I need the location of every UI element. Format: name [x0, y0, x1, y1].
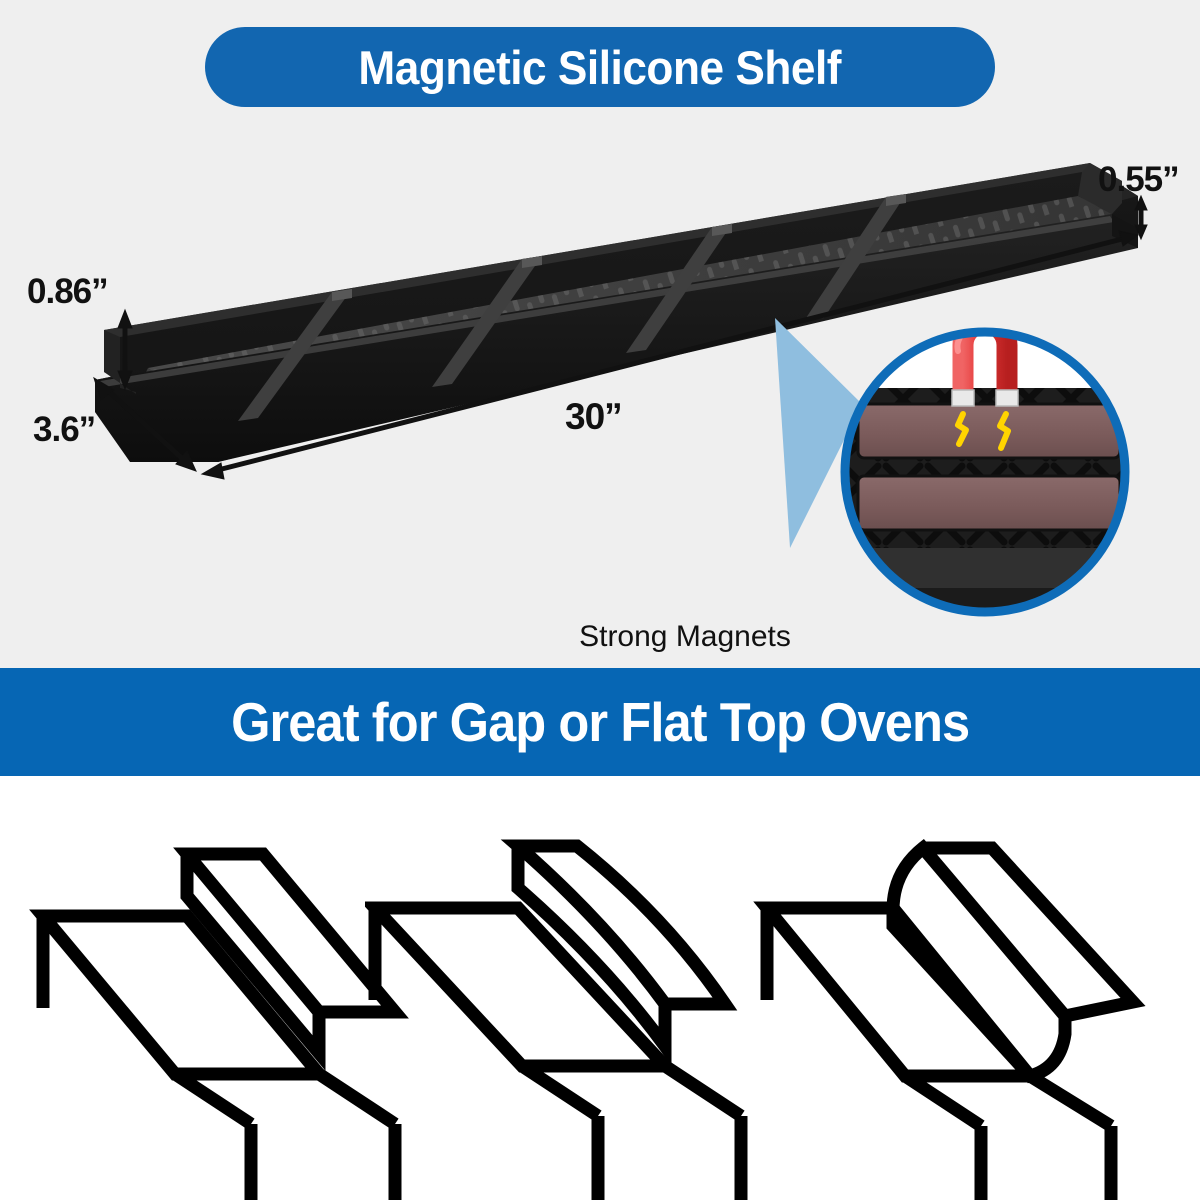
oven-diagram-slight-curve: [365, 776, 795, 1200]
dimension-label-height: 0.86”: [27, 272, 108, 312]
title-banner: Magnetic Silicone Shelf: [205, 27, 995, 107]
product-dimensions-panel: 0.86” 3.6” 30” 0.55” Strong Magnets Magn…: [0, 0, 1200, 668]
strong-magnets-caption: Strong Magnets: [579, 620, 791, 654]
section-banner: Great for Gap or Flat Top Ovens: [0, 668, 1200, 776]
oven-compatibility-panel: [0, 776, 1200, 1200]
oven-diagram-flat-gap: [0, 776, 410, 1200]
dimension-label-length: 30”: [565, 396, 622, 438]
infographic-page: 0.86” 3.6” 30” 0.55” Strong Magnets Magn…: [0, 0, 1200, 1200]
dimension-label-depth: 3.6”: [33, 410, 95, 450]
strong-magnets-caption-wrap: Strong Magnets: [0, 620, 1200, 654]
oven-diagram-rounded: [745, 776, 1175, 1200]
section-banner-text: Great for Gap or Flat Top Ovens: [231, 690, 969, 754]
magnets-callout-circle: [838, 323, 1138, 628]
page-title: Magnetic Silicone Shelf: [359, 40, 842, 95]
dimension-label-base: 0.55”: [1098, 160, 1179, 200]
